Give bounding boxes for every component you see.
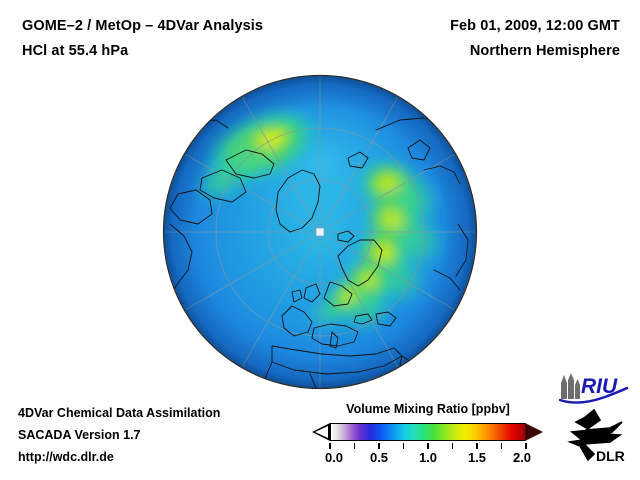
colorbar-tick [525,443,527,449]
colorbar-graphic [312,422,544,443]
timestamp-label: Feb 01, 2009, 12:00 GMT [320,14,620,39]
colorbar-tick [452,443,454,449]
dlr-logo: DLR [566,408,628,464]
colorbar: Volume Mixing Ratio [ppbv] 0.00.51.01.52… [312,401,544,468]
footer-credits: 4DVar Chemical Data Assimilation SACADA … [18,402,318,468]
hemisphere-label: Northern Hemisphere [320,39,620,64]
colorbar-tick [403,443,405,449]
colorbar-tick [329,443,331,449]
colorbar-tick [354,443,356,449]
colorbar-tick [476,443,478,449]
method-label: 4DVar Chemical Data Assimilation [18,402,318,424]
version-label: SACADA Version 1.7 [18,424,318,446]
globe-map [162,74,478,390]
colorbar-tick [427,443,429,449]
header-right: Feb 01, 2009, 12:00 GMT Northern Hemisph… [320,14,620,64]
riu-logo: RIU [557,371,629,405]
colorbar-gradient [330,423,526,441]
colorbar-title: Volume Mixing Ratio [ppbv] [312,401,544,417]
colorbar-tick [378,443,380,449]
colorbar-tick-label: 0.5 [370,450,388,465]
colorbar-ticks [330,443,526,450]
colorbar-under-arrow-fill [315,426,328,438]
colorbar-tick [501,443,503,449]
colorbar-tick-label: 1.0 [419,450,437,465]
colorbar-tick-label: 2.0 [513,450,531,465]
colorbar-tick-label: 1.5 [468,450,486,465]
colorbar-tick-labels: 0.00.51.01.52.0 [330,450,526,468]
north-pole-marker [317,229,324,236]
dlr-wordmark: DLR [596,448,625,464]
riu-tower-icon [561,373,580,399]
source-url[interactable]: http://wdc.dlr.de [18,446,318,468]
colorbar-tick-label: 0.0 [325,450,343,465]
colorbar-over-arrow [525,423,543,441]
